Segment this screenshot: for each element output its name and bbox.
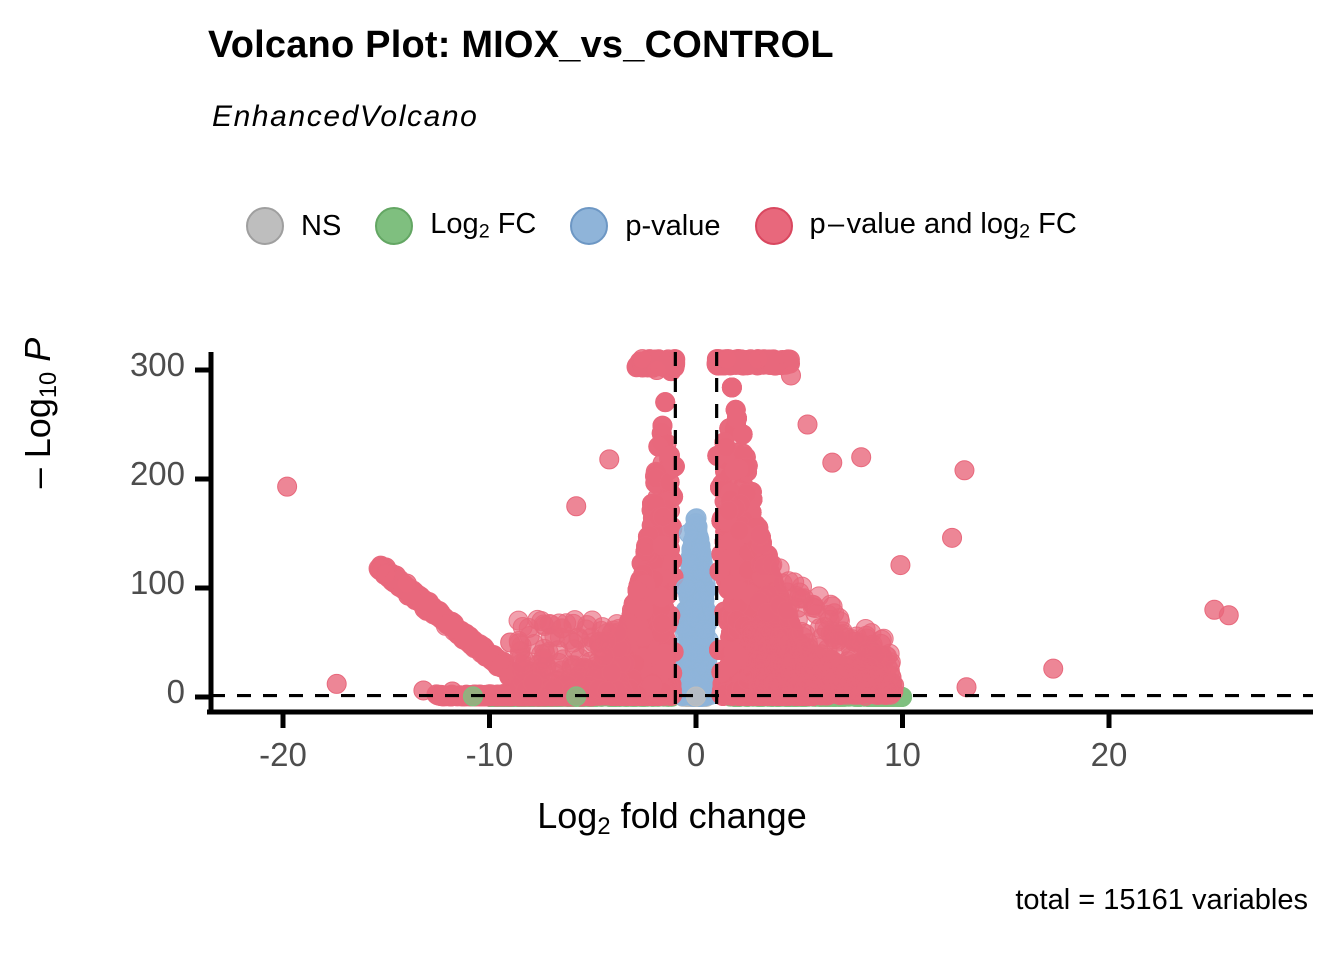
- y-tick-label: 0: [15, 673, 185, 711]
- y-tick-label: 200: [15, 455, 185, 493]
- scatter-points: [278, 350, 1239, 707]
- x-tick-label: -20: [223, 736, 343, 774]
- y-tick-label: 300: [15, 346, 185, 384]
- x-tick-label: 0: [636, 736, 756, 774]
- x-axis-title: Log2 fold change: [0, 795, 1344, 841]
- y-tick-label: 100: [15, 564, 185, 602]
- x-tick-label: -10: [430, 736, 550, 774]
- volcano-plot-figure: Volcano Plot: MIOX_vs_CONTROL EnhancedVo…: [0, 0, 1344, 960]
- x-tick-label: 20: [1049, 736, 1169, 774]
- y-axis-title: – Log10 P: [17, 223, 63, 603]
- plot-caption: total = 15161 variables: [1015, 884, 1308, 917]
- x-tick-label: 10: [843, 736, 963, 774]
